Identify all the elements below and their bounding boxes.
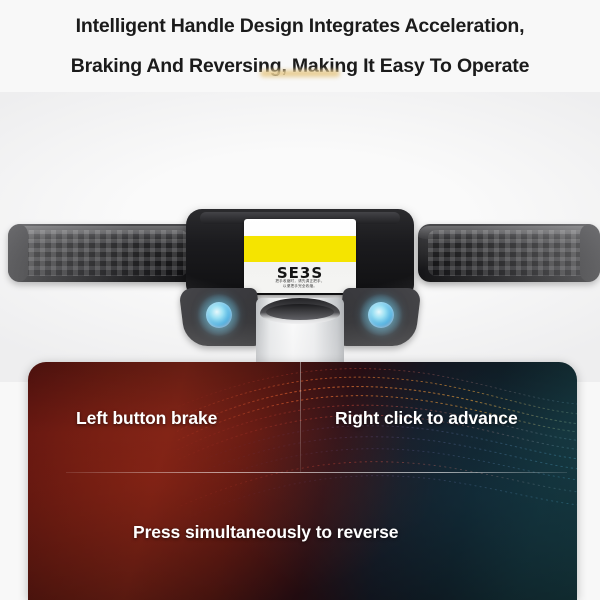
right-handle-grip: [418, 224, 600, 282]
grip-end-cap: [580, 224, 600, 282]
right-throttle-lever: [340, 288, 418, 346]
caption-left-button-brake: Left button brake: [76, 408, 217, 429]
grip-highlight: [8, 226, 198, 242]
page-title: Intelligent Handle Design Integrates Acc…: [0, 6, 600, 86]
grip-end-cap: [8, 224, 28, 282]
caption-press-simultaneously: Press simultaneously to reverse: [133, 522, 398, 543]
brand-badge: SE3S 把手收缩时，请先调正把手， 以便把手完全收缩。: [244, 219, 356, 293]
left-led-button[interactable]: [206, 302, 232, 328]
left-brake-lever: [182, 288, 260, 346]
stem-collar-inner: [266, 304, 334, 320]
caption-right-click-advance: Right click to advance: [335, 408, 518, 429]
handlebar-console: SE3S 把手收缩时，请先调正把手， 以便把手完全收缩。: [186, 209, 414, 295]
headline-line-1: Intelligent Handle Design Integrates Acc…: [76, 15, 525, 37]
left-handle-grip: [8, 224, 198, 282]
product-feature-card: Intelligent Handle Design Integrates Acc…: [0, 0, 600, 600]
caption-horizontal-divider: [66, 472, 567, 473]
caption-panel: Left button brake Right click to advance…: [28, 362, 577, 600]
headline-underline-accent: [260, 70, 340, 77]
badge-yellow-band: [244, 236, 356, 262]
product-photo: SE3S 把手收缩时，请先调正把手， 以便把手完全收缩。: [0, 92, 600, 382]
caption-vertical-divider: [300, 362, 301, 472]
right-led-button[interactable]: [368, 302, 394, 328]
grip-highlight: [418, 226, 600, 242]
headline-line-2-wrap: Braking And Reversing, Making It Easy To…: [0, 46, 600, 86]
